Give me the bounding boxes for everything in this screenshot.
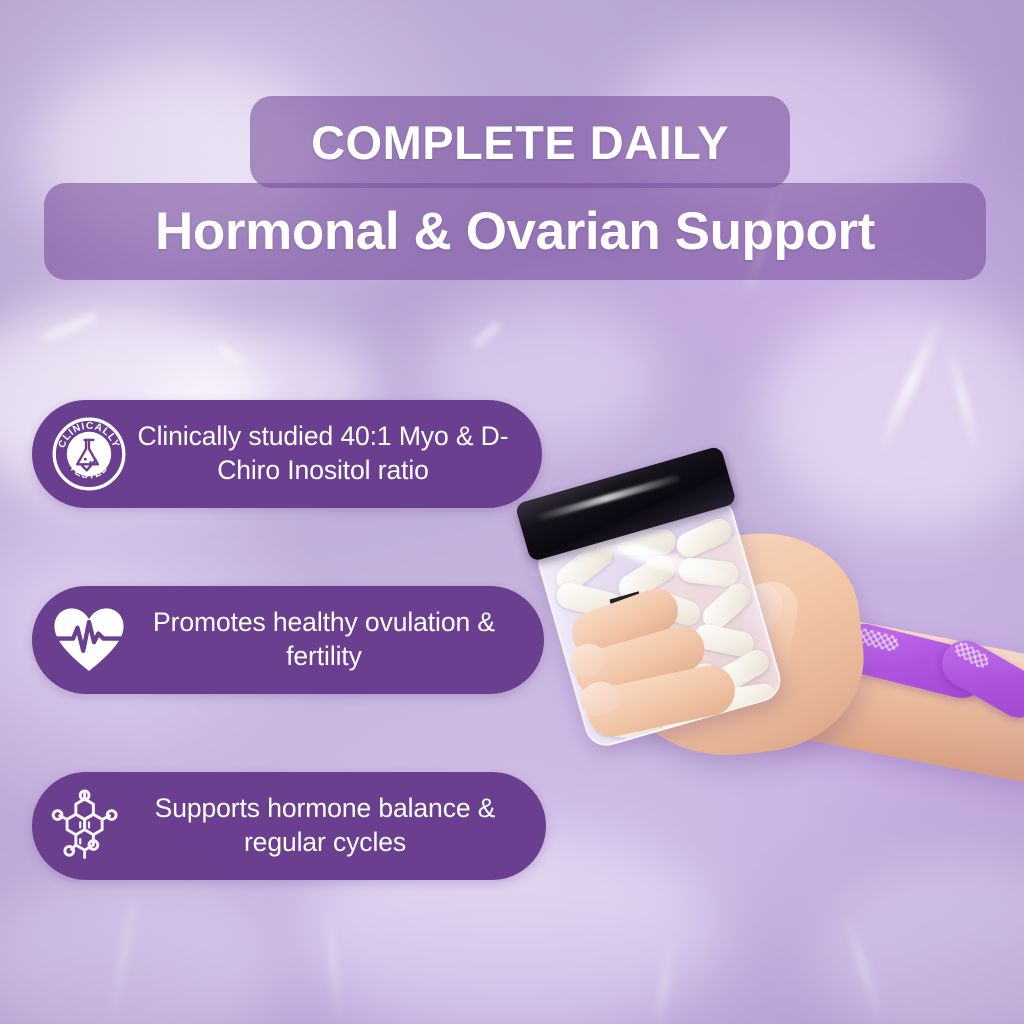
molecule-structure-icon — [50, 787, 128, 865]
headline-line-2: Hormonal & Ovarian Support — [155, 201, 875, 262]
product-photo: Lunee — [520, 440, 1024, 870]
feature-text: Promotes healthy ovulation & fertility — [134, 606, 518, 673]
cap-highlight — [534, 474, 680, 522]
headline-band-top: COMPLETE DAILY — [250, 96, 790, 188]
headline-band-bottom: Hormonal & Ovarian Support — [44, 183, 986, 280]
feature-pill-ovulation-fertility[interactable]: Promotes healthy ovulation & fertility — [32, 586, 544, 694]
feature-text: Clinically studied 40:1 Myo & D-Chiro In… — [134, 420, 516, 487]
feature-text: Supports hormone balance & regular cycle… — [134, 792, 520, 859]
clinically-tested-badge-icon: CLINICALLY TESTED — [50, 415, 128, 493]
feature-pill-clinically-studied[interactable]: CLINICALLY TESTED Clinically studied 40:… — [32, 400, 542, 508]
heart-pulse-icon — [50, 601, 128, 679]
feature-pill-hormone-balance[interactable]: Supports hormone balance & regular cycle… — [32, 772, 546, 880]
headline-line-1: COMPLETE DAILY — [311, 115, 729, 170]
promo-card: Lunee COMPLETE DAILY Hormonal & Ovarian … — [0, 0, 1024, 1024]
